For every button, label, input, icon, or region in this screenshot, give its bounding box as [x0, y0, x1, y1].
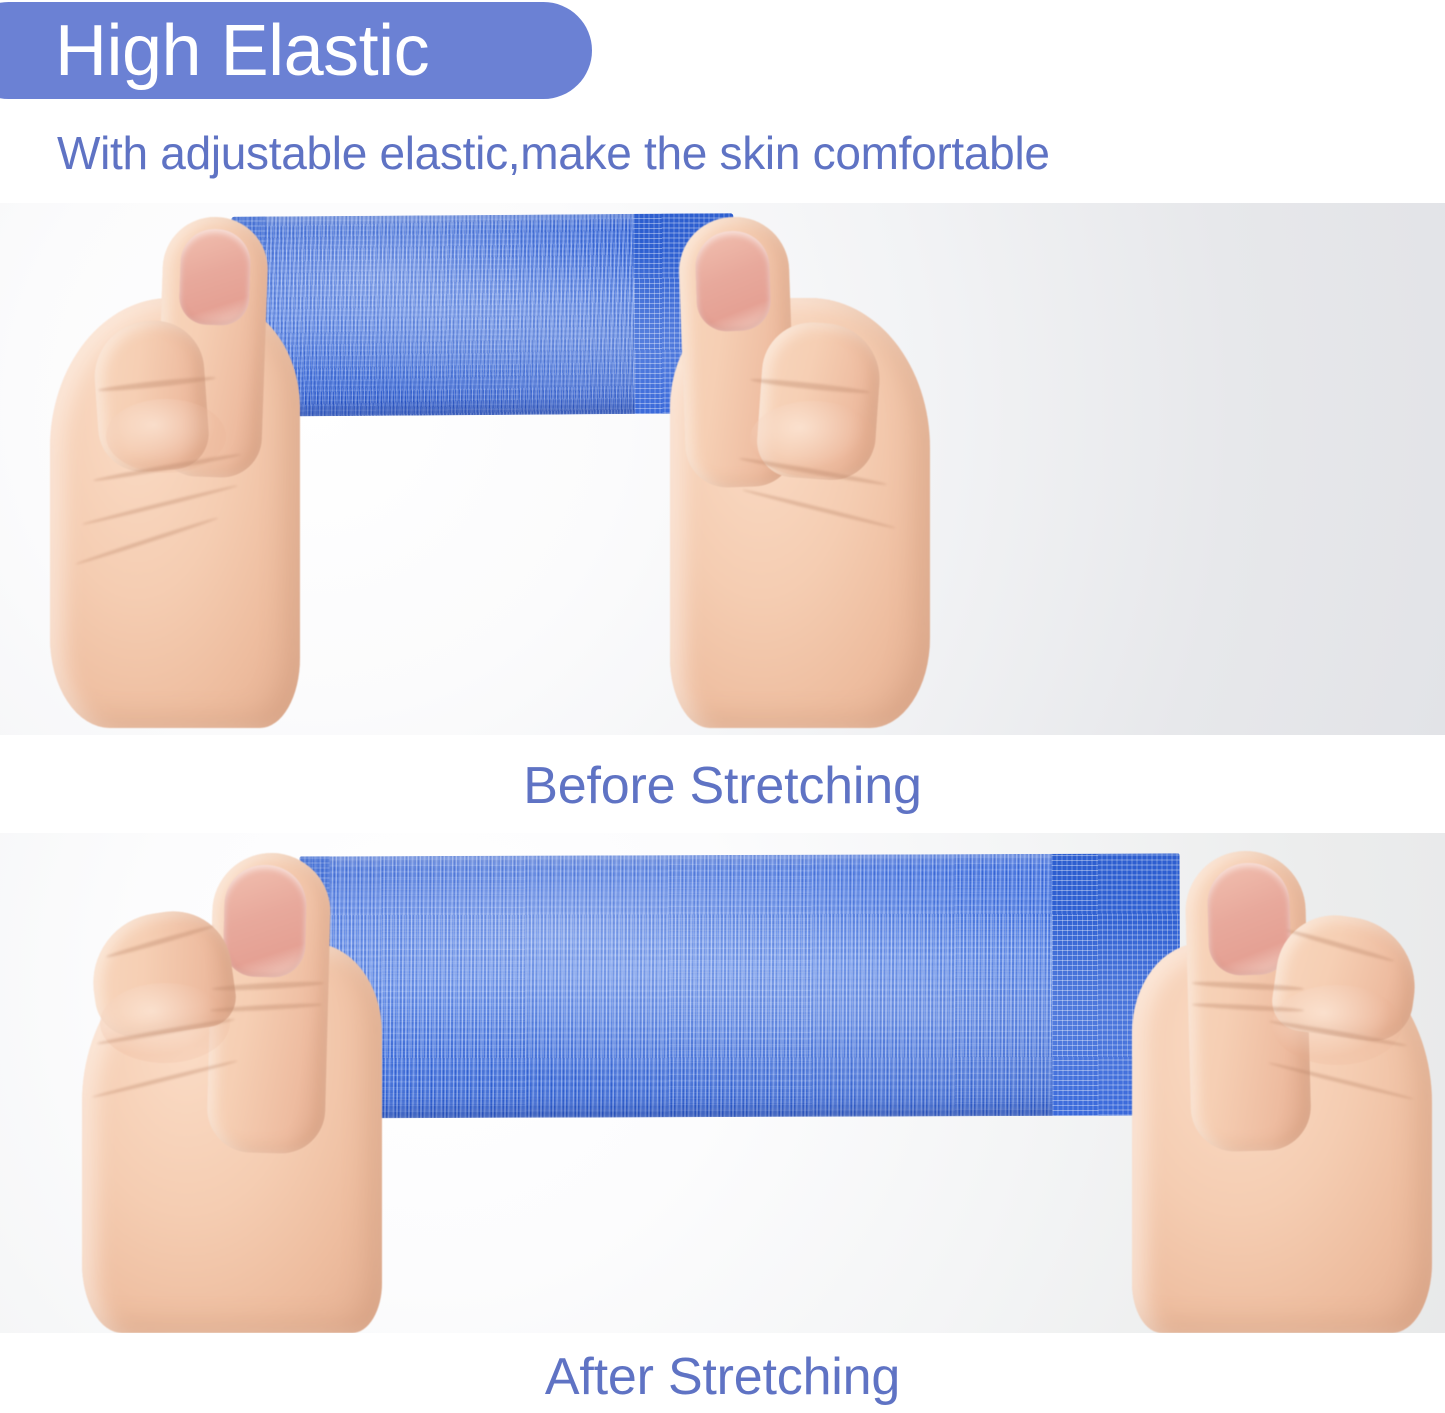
caption-after-stretching: After Stretching	[0, 1348, 1445, 1406]
header-badge-label: High Elastic	[55, 15, 429, 87]
caption-before-stretching: Before Stretching	[0, 757, 1445, 815]
left-hand-after	[60, 833, 460, 1333]
header-badge: High Elastic	[0, 2, 592, 99]
photo-after-stretching	[0, 833, 1445, 1333]
header-subtitle: With adjustable elastic,make the skin co…	[57, 126, 1050, 180]
right-hand-before	[610, 203, 1010, 735]
photo-before-stretching	[0, 203, 1445, 735]
left-hand-before	[10, 203, 390, 735]
right-index-nail-before	[694, 230, 771, 333]
left-index-nail-before	[178, 228, 251, 326]
product-infographic: High Elastic With adjustable elastic,mak…	[0, 0, 1445, 1413]
left-thumb-nail-after	[223, 864, 308, 978]
right-hand-after	[1060, 833, 1445, 1333]
